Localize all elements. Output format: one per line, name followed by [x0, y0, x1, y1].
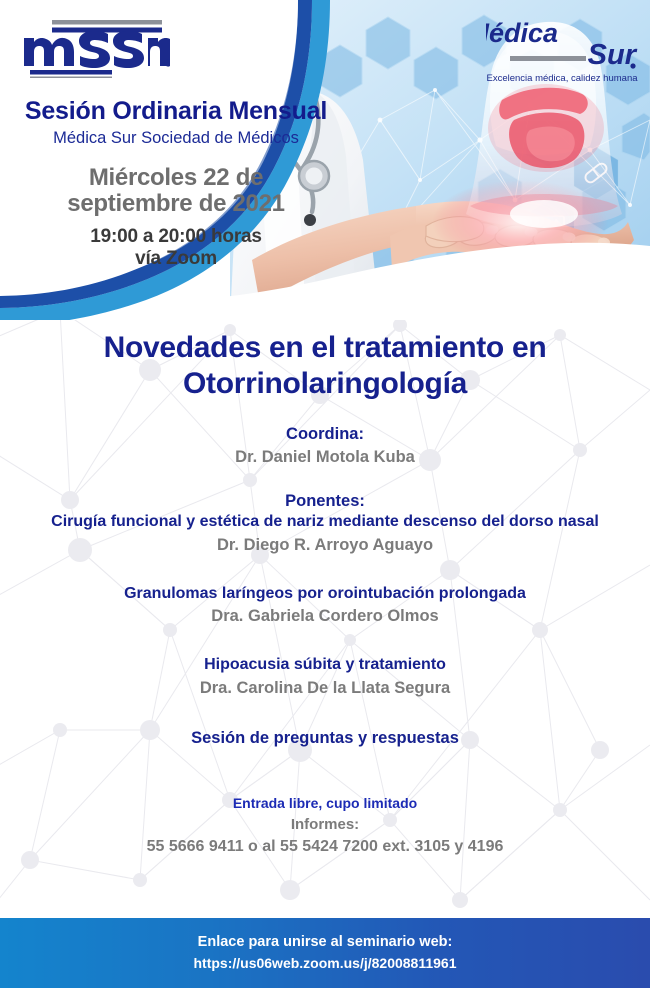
- speakers-label: Ponentes:: [0, 491, 650, 512]
- webinar-link-label: Enlace para unirse al seminario web:: [198, 933, 453, 952]
- qa-session-label: Sesión de preguntas y respuestas: [0, 729, 650, 748]
- talk-speaker: Dra. Gabriela Cordero Olmos: [0, 606, 650, 627]
- event-time: 19:00 a 20:00 horas vía Zoom: [0, 226, 352, 269]
- coordinator-label: Coordina:: [0, 424, 650, 445]
- event-date-line2: septiembre de 2021: [0, 191, 352, 217]
- free-entry-note: Entrada libre, cupo limitado: [0, 794, 650, 813]
- info-block: Entrada libre, cupo limitado Informes: 5…: [0, 794, 650, 858]
- main-title-line2: Otorrinolaringología: [40, 366, 610, 402]
- poster-body: Novedades en el tratamiento en Otorrinol…: [0, 330, 650, 858]
- medica-sur-logo-mark: Médica Sur Excelencia médica, calidez hu…: [486, 14, 638, 86]
- talk-title: Granulomas laríngeos por orointubación p…: [0, 584, 650, 605]
- talk-title: Cirugía funcional y estética de nariz me…: [0, 512, 650, 533]
- session-title: Sesión Ordinaria Mensual: [0, 98, 352, 126]
- coordinator-block: Coordina: Dr. Daniel Motola Kuba: [0, 424, 650, 469]
- talk-speaker: Dr. Diego R. Arroyo Aguayo: [0, 535, 650, 556]
- medica-sur-logo: Médica Sur Excelencia médica, calidez hu…: [486, 14, 638, 91]
- event-date: Miércoles 22 de septiembre de 2021: [0, 165, 352, 217]
- poster-footer: Enlace para unirse al seminario web: htt…: [0, 918, 650, 988]
- informes-label: Informes:: [0, 815, 650, 835]
- event-date-line1: Miércoles 22 de: [0, 165, 352, 191]
- talk-item: Cirugía funcional y estética de nariz me…: [0, 512, 650, 556]
- poster-root: Médica Sur Excelencia médica, calidez hu…: [0, 0, 650, 988]
- speakers-block: Ponentes: Cirugía funcional y estética d…: [0, 491, 650, 748]
- talk-speaker: Dra. Carolina De la Llata Segura: [0, 678, 650, 699]
- society-name: Médica Sur Sociedad de Médicos: [0, 129, 352, 148]
- main-title-line1: Novedades en el tratamiento en: [40, 330, 610, 366]
- event-time-line1: 19:00 a 20:00 horas: [0, 226, 352, 247]
- page-title: Novedades en el tratamiento en Otorrinol…: [0, 330, 650, 402]
- medica-sur-word-sur: Sur: [588, 39, 638, 71]
- header-text-block: Sesión Ordinaria Mensual Médica Sur Soci…: [0, 98, 352, 269]
- contact-phones: 55 5666 9411 o al 55 5424 7200 ext. 3105…: [0, 836, 650, 858]
- medica-sur-tagline: Excelencia médica, calidez humana: [486, 73, 638, 84]
- mssm-logo-mark: [22, 20, 170, 78]
- medica-sur-word-medica: Médica: [486, 18, 558, 48]
- webinar-url-link[interactable]: https://us06web.zoom.us/j/82008811961: [193, 954, 456, 973]
- mssm-logo: [22, 20, 170, 83]
- talk-title: Hipoacusia súbita y tratamiento: [0, 655, 650, 676]
- talk-item: Granulomas laríngeos por orointubación p…: [0, 584, 650, 628]
- poster-header: Médica Sur Excelencia médica, calidez hu…: [0, 0, 650, 320]
- talk-item: Hipoacusia súbita y tratamiento Dra. Car…: [0, 655, 650, 699]
- event-platform: vía Zoom: [0, 248, 352, 269]
- coordinator-name: Dr. Daniel Motola Kuba: [0, 447, 650, 468]
